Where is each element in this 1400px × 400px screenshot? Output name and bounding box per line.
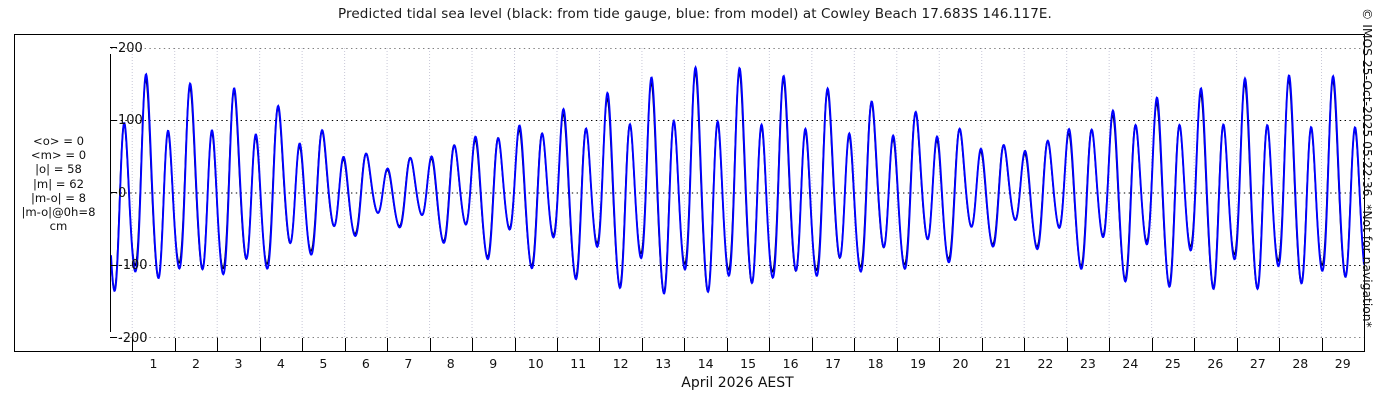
- x-axis-tick: [1279, 338, 1280, 352]
- x-axis-tick-label: 8: [431, 356, 471, 371]
- stat-abs-model: |m| = 62: [8, 177, 109, 191]
- tide-series-svg: [111, 48, 1364, 338]
- x-axis-tick: [1024, 338, 1025, 352]
- x-axis-tick-label: 26: [1195, 356, 1235, 371]
- x-axis-tick-label: 3: [218, 356, 258, 371]
- x-axis-tick-label: 28: [1280, 356, 1320, 371]
- x-axis-tick: [1237, 338, 1238, 352]
- x-axis-tick-label: 24: [1110, 356, 1150, 371]
- stat-abs-diff-0h: |m-o|@0h=8: [8, 205, 109, 219]
- y-axis-tick: [110, 265, 117, 266]
- plot-area: [111, 48, 1364, 338]
- x-axis-tick: [854, 338, 855, 352]
- x-axis-tick: [302, 338, 303, 352]
- x-axis-tick: [769, 338, 770, 352]
- x-axis-tick: [897, 338, 898, 352]
- x-axis-tick-label: 17: [813, 356, 853, 371]
- x-axis-tick: [1194, 338, 1195, 352]
- x-axis-tick: [1109, 338, 1110, 352]
- x-axis-tick: [982, 338, 983, 352]
- copyright-credit: © IMOS 25-Oct-2025 05:22:36. *Not for na…: [1360, 8, 1374, 392]
- x-axis-tick: [515, 338, 516, 352]
- y-axis-tick: [110, 47, 117, 48]
- y-axis-tick-label: 0: [118, 187, 126, 200]
- x-axis-tick-label: 12: [601, 356, 641, 371]
- x-axis-tick: [812, 338, 813, 352]
- x-axis-tick-label: 5: [303, 356, 343, 371]
- x-axis-tick-label: 7: [388, 356, 428, 371]
- x-axis-tick-label: 11: [558, 356, 598, 371]
- page-title: Predicted tidal sea level (black: from t…: [0, 6, 1390, 22]
- statistics-block: <o> = 0 <m> = 0 |o| = 58 |m| = 62 |m-o| …: [8, 134, 109, 233]
- x-axis-tick: [1322, 338, 1323, 352]
- tide-chart-page: Predicted tidal sea level (black: from t…: [0, 0, 1400, 400]
- y-axis-tick-label: 100: [118, 114, 143, 127]
- x-axis-tick-label: 25: [1153, 356, 1193, 371]
- x-axis-tick: [260, 338, 261, 352]
- x-axis-tick-label: 9: [473, 356, 513, 371]
- stat-abs-obs: |o| = 58: [8, 162, 109, 176]
- x-axis-title: April 2026 AEST: [111, 375, 1364, 391]
- x-axis-tick-label: 14: [686, 356, 726, 371]
- x-axis-tick-label: 4: [261, 356, 301, 371]
- x-axis-tick: [599, 338, 600, 352]
- x-axis-tick: [1152, 338, 1153, 352]
- x-axis-tick: [430, 338, 431, 352]
- x-axis-tick: [217, 338, 218, 352]
- x-axis-tick-label: 27: [1238, 356, 1278, 371]
- x-axis-tick: [472, 338, 473, 352]
- x-axis-tick: [642, 338, 643, 352]
- x-axis-tick-label: 29: [1323, 356, 1363, 371]
- y-axis-tick-label: 200: [118, 42, 143, 55]
- x-axis-tick: [175, 338, 176, 352]
- x-axis-tick-label: 6: [346, 356, 386, 371]
- x-axis-tick: [132, 338, 133, 352]
- x-axis-tick: [1067, 338, 1068, 352]
- x-axis-tick-label: 18: [856, 356, 896, 371]
- x-axis-tick: [684, 338, 685, 352]
- stat-abs-diff: |m-o| = 8: [8, 191, 109, 205]
- x-axis-tick-label: 23: [1068, 356, 1108, 371]
- stat-mean-obs: <o> = 0: [8, 134, 109, 148]
- x-axis-tick-label: 21: [983, 356, 1023, 371]
- x-axis-tick: [727, 338, 728, 352]
- stat-units: cm: [8, 219, 109, 233]
- y-axis-tick: [110, 337, 117, 338]
- y-axis-tick: [110, 192, 117, 193]
- series-line-model: [111, 67, 1364, 293]
- x-axis-tick: [387, 338, 388, 352]
- x-axis-tick-label: 13: [643, 356, 683, 371]
- x-axis-tick: [345, 338, 346, 352]
- x-axis-tick-label: 2: [176, 356, 216, 371]
- stat-mean-model: <m> = 0: [8, 148, 109, 162]
- x-axis-tick-label: 1: [133, 356, 173, 371]
- x-axis-tick: [939, 338, 940, 352]
- x-axis-tick-label: 15: [728, 356, 768, 371]
- y-axis-tick-label: -100: [118, 259, 148, 272]
- x-axis-tick-label: 20: [940, 356, 980, 371]
- x-axis-tick: [557, 338, 558, 352]
- x-axis-tick-label: 16: [771, 356, 811, 371]
- x-axis-tick-label: 19: [898, 356, 938, 371]
- y-axis-tick: [110, 120, 117, 121]
- x-axis-tick-label: 22: [1025, 356, 1065, 371]
- x-axis-tick-label: 10: [516, 356, 556, 371]
